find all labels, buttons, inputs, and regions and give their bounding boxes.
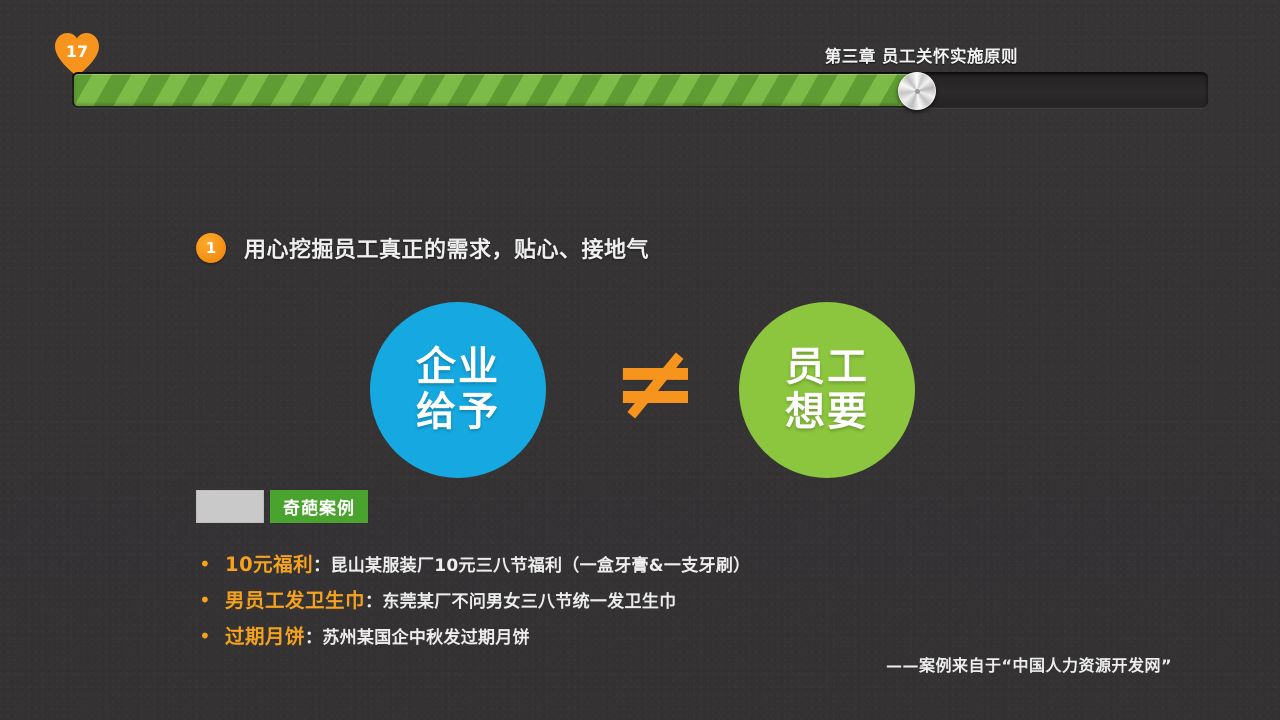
- image-placeholder: [196, 490, 264, 523]
- bullet-dot-icon: •: [199, 626, 225, 646]
- circle-company-line1: 企业: [416, 345, 500, 390]
- slide-topbar: 第三章 员工关怀实施原则 17: [0, 0, 1280, 120]
- comparison-diagram: 企业 给予 ≠ 员工 想要: [370, 302, 915, 480]
- section-heading: 1 用心挖掘员工真正的需求，贴心、接地气: [196, 232, 649, 264]
- progress-bar-fill: [74, 74, 918, 106]
- bullet-dot-icon: •: [199, 554, 225, 574]
- bullet-keyword: 男员工发卫生巾: [225, 584, 365, 613]
- circle-company-gives: 企业 给予: [370, 302, 546, 478]
- heading-text: 用心挖掘员工真正的需求，贴心、接地气: [244, 232, 649, 264]
- heading-number-badge: 1: [196, 233, 226, 263]
- bullet-body: ：昆山某服装厂10元三八节福利（一盒牙膏&一支牙刷）: [313, 551, 750, 576]
- not-equal-icon: ≠: [568, 330, 743, 434]
- bullet-keyword: 过期月饼: [225, 620, 305, 649]
- circle-employee-line2: 想要: [785, 390, 869, 435]
- case-bullet-list: • 10元福利 ：昆山某服装厂10元三八节福利（一盒牙膏&一支牙刷） • 男员工…: [199, 548, 1199, 656]
- progress-bar-knob[interactable]: [898, 72, 936, 110]
- bullet-dot-icon: •: [199, 590, 225, 610]
- list-item: • 10元福利 ：昆山某服装厂10元三八节福利（一盒牙膏&一支牙刷）: [199, 548, 1199, 584]
- circle-company-line2: 给予: [416, 390, 500, 435]
- chapter-title: 第三章 员工关怀实施原则: [825, 43, 1018, 67]
- source-attribution: ——案例来自于“中国人力资源开发网”: [886, 652, 1172, 676]
- circle-employee-line1: 员工: [785, 345, 869, 390]
- bullet-body: ：东莞某厂不问男女三八节统一发卫生巾: [365, 587, 676, 612]
- list-item: • 过期月饼 ：苏州某国企中秋发过期月饼: [199, 620, 1199, 656]
- list-item: • 男员工发卫生巾 ：东莞某厂不问男女三八节统一发卫生巾: [199, 584, 1199, 620]
- circle-employee-wants: 员工 想要: [739, 302, 915, 478]
- progress-bar-track[interactable]: [72, 72, 1208, 108]
- slide-number-label: 17: [52, 42, 102, 61]
- case-label-row: 奇葩案例: [196, 490, 368, 523]
- bullet-keyword: 10元福利: [225, 548, 313, 577]
- case-tag-label: 奇葩案例: [270, 490, 368, 523]
- slide-canvas: 第三章 员工关怀实施原则 17 1 用心挖掘员工真正的需求，贴心、接地气 企业 …: [0, 0, 1280, 720]
- bullet-body: ：苏州某国企中秋发过期月饼: [305, 623, 530, 648]
